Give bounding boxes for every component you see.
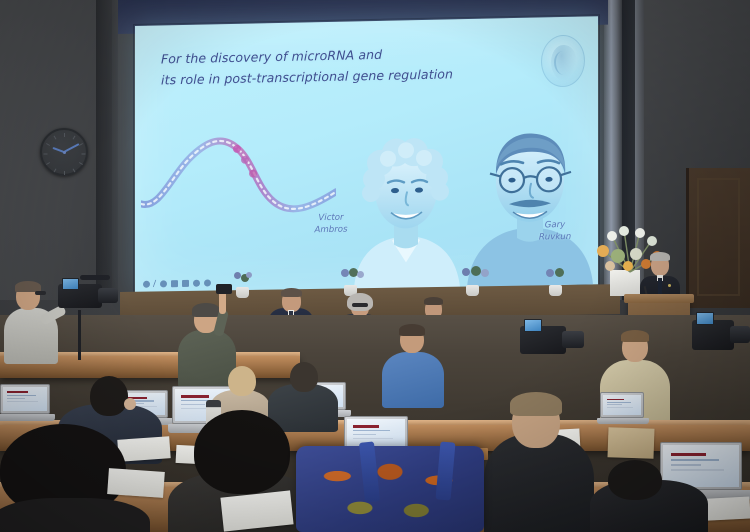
laureate-name-line2: Ruvkun	[539, 232, 571, 243]
flower-arrangement	[462, 266, 490, 296]
journalist-laptop[interactable]	[600, 392, 650, 426]
video-camera-right	[688, 310, 750, 354]
clock-center-pin	[63, 151, 66, 154]
notebook	[607, 427, 654, 459]
tripod-leg	[78, 310, 81, 360]
pen-icon[interactable]	[153, 279, 158, 287]
patterned-bag	[296, 446, 484, 532]
blank-screen-icon[interactable]	[182, 279, 189, 286]
laureate-name-line1: Victor	[318, 213, 343, 224]
more-options-icon[interactable]	[204, 279, 211, 286]
paper-sheet	[107, 468, 165, 498]
laureate-name-line1: Gary	[545, 220, 566, 230]
slide-toolbar[interactable]	[141, 277, 213, 289]
laureate-name-line2: Ambros	[315, 225, 348, 236]
flower-arrangement	[232, 272, 254, 298]
settings-icon[interactable]	[143, 280, 150, 287]
slide-title: For the discovery of microRNA and its ro…	[161, 43, 491, 91]
flower-arrangement	[545, 268, 571, 296]
slide-title-line2: its role in post-transcriptional gene re…	[161, 63, 491, 91]
journalist-laptop[interactable]	[0, 384, 56, 422]
menu-icon[interactable]	[193, 279, 200, 286]
portrait-victor-ambros	[340, 127, 472, 290]
projection-screen: For the discovery of microRNA and its ro…	[135, 16, 598, 294]
audience-person-foreground-right	[590, 460, 710, 532]
nobel-medal-icon	[541, 35, 585, 88]
slide-view-icon[interactable]	[171, 280, 178, 287]
video-camera-center	[512, 318, 584, 358]
wooden-door	[686, 168, 750, 308]
wall-clock-icon	[40, 128, 88, 176]
left-wall-shadow	[96, 0, 118, 300]
press-conference-photo: For the discovery of microRNA and its ro…	[0, 0, 750, 532]
magnifier-icon[interactable]	[160, 280, 167, 287]
laureate-name-gary-ruvkun: Gary Ruvkun	[525, 219, 585, 244]
camera-operator-center	[382, 326, 448, 400]
video-camera-left	[52, 278, 118, 312]
portrait-gary-ruvkun	[455, 116, 598, 287]
laureate-name-victor-ambros: Victor Ambros	[301, 211, 361, 236]
slide-title-line1: For the discovery of microRNA and	[161, 47, 382, 67]
paper-sheet	[220, 490, 293, 531]
clock-minute-hand	[64, 143, 80, 153]
audience-person-black-top	[484, 396, 596, 532]
